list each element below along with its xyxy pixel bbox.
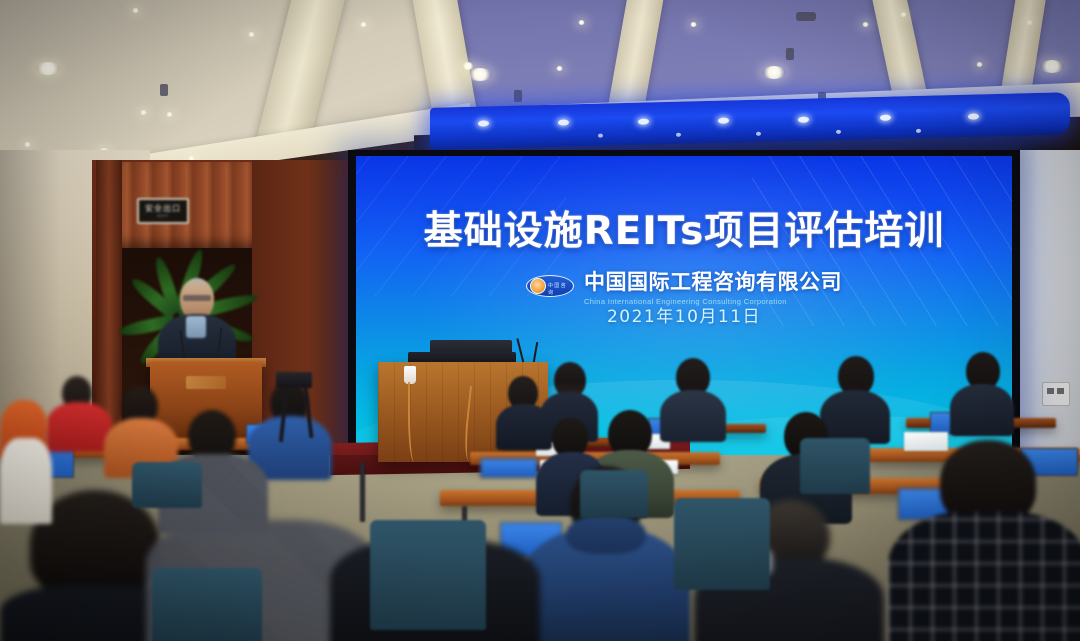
strip-light [916, 129, 921, 133]
ceiling-spotlight [36, 62, 60, 75]
ceiling-spotlight [248, 32, 255, 37]
exit-sign-label-cn: 安全出口 [145, 204, 181, 213]
speaker-presenter [156, 278, 236, 370]
strip-light [880, 115, 891, 121]
ceiling-spotlight [578, 20, 585, 25]
audience-member [46, 376, 112, 450]
ceiling-spotlight [132, 8, 139, 13]
wall-socket [1042, 382, 1070, 406]
exit-sign-label-en: EXIT [157, 213, 168, 218]
strip-light [718, 118, 729, 124]
desk-leg [360, 462, 365, 522]
logo-badge-icon [530, 278, 546, 294]
ceiling-spotlight [862, 22, 869, 27]
torso [950, 384, 1014, 436]
ceiling-spotlight [690, 22, 697, 27]
strip-light [756, 132, 761, 136]
audience-member [950, 352, 1014, 430]
conference-room-photo: 安全出口 EXIT 基础设施REITs项目评估培训 中国咨询 中国国际工程咨询有… [0, 0, 1080, 641]
strip-light [478, 120, 489, 126]
torso-light [0, 438, 52, 524]
audience-member [888, 440, 1080, 641]
slide-organization: 中国咨询 中国国际工程咨询有限公司 China International En… [356, 266, 1012, 306]
strip-light [598, 134, 603, 138]
chair[interactable] [674, 498, 770, 590]
camera-icon [276, 372, 312, 388]
ceiling-spotlight [1040, 60, 1064, 73]
torso-grid-jacket [888, 512, 1080, 641]
power-cable [408, 382, 418, 462]
strip-light [798, 117, 809, 123]
ceiling-spotlight [140, 110, 147, 115]
chair[interactable] [370, 520, 486, 630]
chair[interactable] [580, 470, 648, 518]
ceiling-spotlight [360, 22, 367, 27]
slide-date: 2021年10月11日 [356, 302, 1012, 327]
audience-member [0, 398, 52, 518]
glasses-icon [183, 295, 211, 301]
smoke-detector-icon [514, 90, 522, 102]
podium-emblem [186, 376, 226, 389]
ceiling-spotlight [166, 112, 173, 117]
chair[interactable] [152, 568, 262, 641]
strip-light [676, 133, 681, 137]
chair[interactable] [800, 438, 870, 494]
hood [566, 514, 646, 554]
strip-light [558, 119, 569, 125]
ceiling-spotlight [976, 62, 983, 67]
ciecc-logo-icon: 中国咨询 [526, 275, 574, 297]
slide-title: 基础设施REITs项目评估培训 [356, 200, 1012, 256]
strip-light [638, 118, 649, 124]
speaker-shirt [186, 316, 206, 338]
ceiling-spotlight [1026, 20, 1033, 25]
ceiling-spotlight [468, 68, 492, 81]
strip-light [968, 113, 979, 119]
ceiling-spotlight [24, 142, 31, 147]
exit-sign: 安全出口 EXIT [137, 198, 189, 224]
organization-names: 中国国际工程咨询有限公司 China International Enginee… [584, 266, 842, 306]
chair[interactable] [132, 462, 202, 508]
ceiling-spotlight [762, 66, 786, 79]
smoke-detector-icon [786, 48, 794, 60]
organization-name-cn: 中国国际工程咨询有限公司 [584, 266, 842, 296]
ceiling-vent [796, 12, 816, 21]
smoke-detector-icon [160, 84, 168, 96]
torso-red-jacket [46, 402, 112, 452]
ceiling-spotlight [900, 12, 907, 17]
wall-right [1016, 150, 1080, 480]
logo-chars: 中国咨询 [548, 282, 573, 296]
strip-light [836, 130, 841, 134]
ceiling-spotlight [556, 66, 563, 71]
